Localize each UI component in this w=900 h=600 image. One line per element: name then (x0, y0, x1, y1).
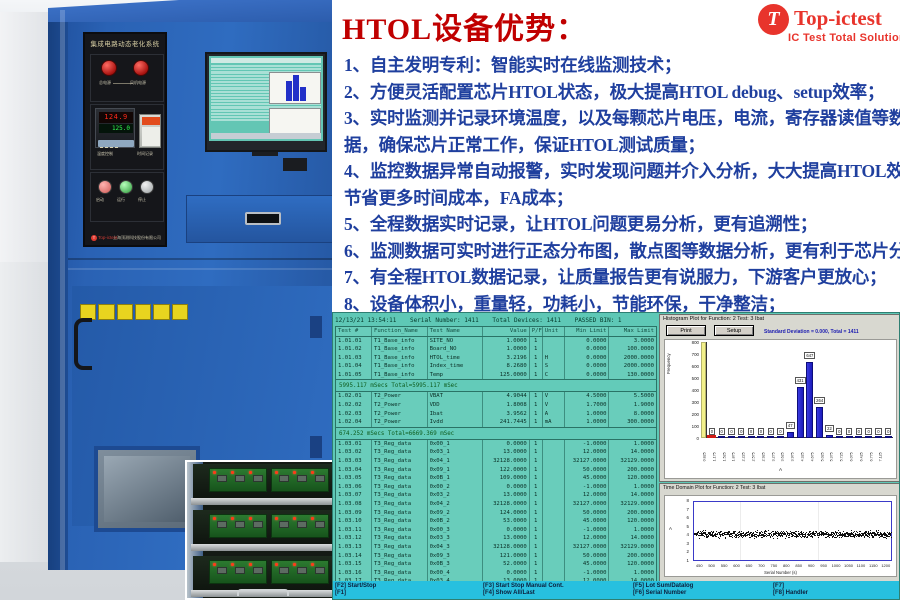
table-cell: 13.0000 (483, 534, 530, 543)
emergency-knob-fan (133, 60, 149, 76)
table-cell: 3.0000 (609, 337, 656, 346)
table-cell: 0x04_3 (428, 543, 484, 552)
table-cell: 1.03.09 (336, 509, 372, 518)
histogram-bar (757, 436, 764, 438)
table-cell: 50.0000 (565, 466, 610, 475)
logo-tagline: IC Test Total Solution (788, 32, 900, 44)
table-cell (543, 448, 565, 457)
table-row[interactable]: 1.02.04T2_PowerIvdd241.74451mA1.0000300.… (336, 418, 656, 427)
status-bar: 12/13/21 13:54:11 Serial Number: 1411 To… (335, 315, 657, 326)
y-tick-label: 5 (687, 524, 689, 529)
table-cell: 1 (530, 509, 543, 518)
meter-label: 温度控制 (97, 151, 113, 157)
x-tick-label: 1150 (867, 563, 879, 568)
counter-label: 时间记录 (137, 151, 153, 157)
table-cell: Index_time (428, 362, 484, 371)
table-cell: 5.5000 (609, 392, 656, 401)
table-cell: 1 (530, 457, 543, 466)
table-cell: 1.03.12 (336, 534, 372, 543)
bar-value-label: 0 (748, 428, 754, 435)
table-cell: 1.02.02 (336, 401, 372, 410)
y-tick-label: 300 (679, 400, 699, 405)
histogram-bar (777, 436, 784, 438)
x-tick-label: 900 (805, 563, 817, 568)
rack-shelf (191, 544, 340, 551)
push-button-run (119, 180, 133, 194)
cabinet-seam (68, 268, 334, 270)
function-key-f4[interactable]: [F4] Show All/Last (483, 590, 535, 596)
histogram-bar-cell: 22 (825, 342, 835, 438)
table-row[interactable]: 1.01.01T1_Base_infoSITE_NO1.000010.00003… (336, 337, 656, 346)
table-cell: 14.0000 (609, 534, 656, 543)
status-serial: Serial Number: 1411 (410, 317, 479, 324)
datalog-table[interactable]: Test #Function_NameTest NameValueP/FUnit… (335, 326, 657, 594)
monitor-screen (209, 56, 323, 141)
logo-t-icon: T (758, 4, 789, 35)
table-cell: 14.0000 (609, 448, 656, 457)
histogram-bar-cell: 0 (727, 342, 737, 438)
table-cell: 1 (530, 543, 543, 552)
table-cell: T3_Reg_data (372, 466, 428, 475)
table-cell: 1.03.08 (336, 500, 372, 509)
histogram-bar (797, 387, 804, 438)
histogram-bar-cell: 0 (864, 342, 874, 438)
table-row[interactable]: 1.03.03T3_Reg_data0x04_132128.0000132127… (336, 457, 656, 466)
table-cell: 0.0000 (483, 569, 530, 578)
histogram-title: Histogram Plot for Function: 2 Test: 3 I… (660, 315, 899, 324)
table-row[interactable]: 1.03.01T3_Reg_data0x00_10.00001-1.00001.… (336, 440, 656, 449)
equipment-monitor (205, 52, 327, 152)
histogram-bar-cell: 47 (785, 342, 795, 438)
x-tick-label: 850 (793, 563, 805, 568)
histogram-bar-cell: 264 (815, 342, 825, 438)
group-timing-footer: 5995.117 mSecs Total=5995.117 mSec (336, 379, 656, 392)
table-cell: 1.7000 (565, 401, 610, 410)
table-cell: T3_Reg_data (372, 534, 428, 543)
table-row[interactable]: 1.03.04T3_Reg_data0x09_1122.0000150.0000… (336, 466, 656, 475)
table-cell: 3.2196 (483, 354, 530, 363)
table-cell: 125.0000 (483, 371, 530, 380)
meter-sv-display: 125.0 (99, 124, 133, 133)
rack-pull-handle (237, 589, 289, 596)
door-hinge (310, 316, 322, 338)
table-cell: 1 (530, 362, 543, 371)
table-row[interactable]: 1.03.14T3_Reg_data0x09_3121.0000150.0000… (336, 552, 656, 561)
function-key-f8[interactable]: [F8] Handler (773, 590, 808, 596)
table-cell: 200.0000 (609, 509, 656, 518)
function-key-f2[interactable]: [F2] Start/Stop (335, 583, 376, 589)
table-cell (543, 560, 565, 569)
column-header: Function_Name (372, 327, 428, 336)
table-cell: 1.03.13 (336, 543, 372, 552)
table-cell (543, 517, 565, 526)
x-tick-label: 1050 (842, 563, 854, 568)
table-cell: -1.0000 (565, 483, 610, 492)
list-item: 6、监测数据可实时进行正态分布图，散点图等数据分析，更有利于芯片分析； (344, 238, 900, 265)
table-cell: 0.0000 (483, 440, 530, 449)
table-cell: 1 (530, 345, 543, 354)
table-cell: 1.0000 (609, 526, 656, 535)
table-cell: 0x0B_2 (428, 517, 484, 526)
histogram-x-ticks: 0.8251.1751.5251.8752.2252.5752.9253.275… (707, 440, 893, 466)
bar-value-label: 0 (885, 428, 891, 435)
table-cell: T3_Reg_data (372, 448, 428, 457)
table-cell: mA (543, 418, 565, 427)
y-tick-label: 200 (679, 412, 699, 417)
x-tick-label: 450 (693, 563, 705, 568)
table-cell: Board_NO (428, 345, 484, 354)
table-cell: 8.0000 (609, 410, 656, 419)
table-cell: 13.0000 (483, 491, 530, 500)
table-cell: 120.0000 (609, 517, 656, 526)
table-cell: Ivdd (428, 418, 484, 427)
cabinet-edge-highlight (60, 10, 65, 570)
table-cell: 0x09_3 (428, 552, 484, 561)
function-key-f1[interactable]: [F1] (335, 590, 346, 596)
bar-value-label: 0 (846, 428, 852, 435)
table-cell: -1.0000 (565, 526, 610, 535)
table-cell: 1 (530, 491, 543, 500)
function-key-f6[interactable]: [F6] Serial Number (633, 590, 686, 596)
table-cell: T3_Reg_data (372, 457, 428, 466)
table-cell: 0x0B_3 (428, 560, 484, 569)
table-cell: V (543, 401, 565, 410)
page-title: HTOL设备优势： (342, 4, 587, 48)
table-cell: SITE_NO (428, 337, 484, 346)
table-cell: 1.0000 (609, 569, 656, 578)
table-cell (543, 337, 565, 346)
table-cell: 32128.0000 (483, 457, 530, 466)
counter-digits (142, 117, 160, 125)
table-cell: 1.9000 (609, 401, 656, 410)
table-cell: 1.0000 (565, 418, 610, 427)
table-cell (543, 534, 565, 543)
table-cell (543, 500, 565, 509)
table-cell: 32129.0000 (609, 457, 656, 466)
group-timing-footer: 674.252 mSecs Total=6669.369 mSec (336, 427, 656, 440)
table-cell: H (543, 354, 565, 363)
table-cell: 120.0000 (609, 474, 656, 483)
table-cell: 1.01.01 (336, 337, 372, 346)
company-logo: T Top-ictest IC Test Total Solution (758, 2, 900, 48)
time-domain-plot: 87654321 A 45050055060065070075080085090… (664, 495, 897, 577)
bar-value-label: 0 (719, 428, 725, 435)
door-hinge (310, 436, 322, 458)
table-cell: 0x03_2 (428, 491, 484, 500)
y-tick-label: 1 (687, 558, 689, 563)
chamber-window-glass (104, 456, 190, 522)
table-row[interactable]: 1.02.03T2_PowerIbat3.95621A1.00008.0000 (336, 410, 656, 419)
table-row[interactable]: 1.03.15T3_Reg_data0x0B_352.0000145.00001… (336, 560, 656, 569)
list-item: 节省更多时间成本，FA成本； (344, 185, 900, 212)
table-cell: 32129.0000 (609, 500, 656, 509)
histogram-lower-limit-marker (707, 435, 716, 438)
histogram-print-button[interactable]: Print (666, 325, 706, 336)
histogram-bar (718, 436, 725, 438)
table-cell: 1.03.11 (336, 526, 372, 535)
table-cell: T3_Reg_data (372, 491, 428, 500)
table-cell: 1.03.03 (336, 457, 372, 466)
table-cell: 0x03_3 (428, 534, 484, 543)
y-tick-label: 800 (679, 340, 699, 345)
bar-value-label: 0 (738, 428, 744, 435)
table-cell: 1 (530, 418, 543, 427)
function-key-f5[interactable]: [F5] Lot Sum/Datalog (633, 583, 693, 589)
control-panel: 集成电路动态老化系统 总电源 风机电源 124.9 125.0 温度控制 时间记… (83, 32, 167, 247)
table-cell (543, 543, 565, 552)
monitor-taskbar (211, 133, 321, 139)
bar-value-label: 0 (777, 428, 783, 435)
table-cell: 300.0000 (609, 418, 656, 427)
table-row[interactable]: 1.03.16T3_Reg_data0x00_40.00001-1.00001.… (336, 569, 656, 578)
table-cell: HTOL_time (428, 354, 484, 363)
table-cell: 0.0000 (565, 362, 610, 371)
x-tick-label: 500 (705, 563, 717, 568)
table-cell: 1.03.04 (336, 466, 372, 475)
time-domain-title: Time Domain Plot for Function: 2 Test: 3… (660, 484, 899, 493)
table-cell: 130.0000 (609, 371, 656, 380)
column-header: Value (483, 327, 530, 336)
table-cell (543, 552, 565, 561)
status-passed-bin: PASSED BIN: 1 (575, 317, 622, 324)
table-cell: VBAT (428, 392, 484, 401)
table-cell: T3_Reg_data (372, 440, 428, 449)
y-tick-label: 600 (679, 364, 699, 369)
function-key-bar[interactable]: [F1] [F2] Start/Stop[F3] Start Stop Manu… (333, 581, 900, 599)
y-tick-label: 700 (679, 352, 699, 357)
x-tick-label: 1200 (880, 563, 892, 568)
table-row[interactable]: 1.03.10T3_Reg_data0x0B_253.0000145.00001… (336, 517, 656, 526)
push-button-start (98, 180, 112, 194)
table-row[interactable]: 1.01.05T1_Base_infoTemp125.00001C0.00001… (336, 371, 656, 380)
table-cell: 1 (530, 466, 543, 475)
table-cell: C (543, 371, 565, 380)
table-cell: 0.0000 (565, 371, 610, 380)
histogram-y-label: Frequency (666, 353, 671, 374)
histogram-bar (806, 362, 813, 438)
table-cell (543, 526, 565, 535)
table-cell: 100.0000 (609, 345, 656, 354)
table-cell: 1.01.05 (336, 371, 372, 380)
histogram-bars: 000000004743164726422000000 (707, 342, 893, 438)
table-cell: T2_Power (372, 392, 428, 401)
histogram-bar (787, 432, 794, 438)
panel-company-text: 上海顶测科技股份有限公司 (113, 235, 161, 241)
monitor-timeplot-popup (269, 108, 321, 134)
table-row[interactable]: 1.03.12T3_Reg_data0x03_313.0000112.00001… (336, 534, 656, 543)
table-cell: 0x00_3 (428, 526, 484, 535)
status-datetime: 12/13/21 13:54:11 (335, 317, 396, 324)
table-row[interactable]: 1.03.02T3_Reg_data0x03_113.0000112.00001… (336, 448, 656, 457)
x-tick-label: 1000 (830, 563, 842, 568)
table-cell: T3_Reg_data (372, 474, 428, 483)
histogram-bar-cell: 0 (766, 342, 776, 438)
table-cell: 1 (530, 401, 543, 410)
rack-shelf (191, 498, 340, 505)
histogram-bar-cell: 0 (844, 342, 854, 438)
table-row[interactable]: 1.03.11T3_Reg_data0x00_30.00001-1.00001.… (336, 526, 656, 535)
table-cell: 0x00_2 (428, 483, 484, 492)
time-domain-axes-frame (693, 501, 892, 561)
x-tick-label: 1100 (855, 563, 867, 568)
table-cell: 1.03.10 (336, 517, 372, 526)
knob-label-power: 总电源 (99, 80, 111, 86)
table-row[interactable]: 1.02.01T2_PowerVBAT4.90441V4.50005.5000 (336, 392, 656, 401)
table-cell: T1_Base_info (372, 345, 428, 354)
table-cell: 1.01.02 (336, 345, 372, 354)
table-cell: Temp (428, 371, 484, 380)
column-header: Test # (336, 327, 372, 336)
histogram-bar-cell: 0 (736, 342, 746, 438)
table-cell: 32127.0000 (565, 543, 610, 552)
table-cell: VDD (428, 401, 484, 410)
table-cell: 13.0000 (483, 448, 530, 457)
table-cell: 1 (530, 526, 543, 535)
table-cell: 2000.0000 (609, 354, 656, 363)
column-header: Test Name (428, 327, 484, 336)
table-cell (543, 466, 565, 475)
histogram-bar (836, 436, 843, 438)
hour-counter (139, 114, 161, 148)
histogram-bar (826, 435, 833, 438)
table-row[interactable]: 1.03.06T3_Reg_data0x00_20.00001-1.00001.… (336, 483, 656, 492)
histogram-setup-button[interactable]: Setup (714, 325, 754, 336)
table-cell: 1 (530, 354, 543, 363)
table-cell: 45.0000 (565, 560, 610, 569)
histogram-y-axis: 8007006005004003002001000 (679, 342, 701, 438)
function-key-f3[interactable]: [F3] Start Stop Manual Cont. (483, 583, 564, 589)
list-item: 2、方便灵活配置芯片HTOL状态，极大提高HTOL debug、setup效率； (344, 79, 900, 106)
table-cell: 1.01.03 (336, 354, 372, 363)
bar-value-label: 0 (768, 428, 774, 435)
table-cell: 241.7445 (483, 418, 530, 427)
table-cell: T1_Base_info (372, 362, 428, 371)
y-tick-label: 3 (687, 541, 689, 546)
histogram-bar-cell: 0 (717, 342, 727, 438)
table-cell: 200.0000 (609, 552, 656, 561)
table-cell: 0x03_1 (428, 448, 484, 457)
table-cell: -1.0000 (565, 440, 610, 449)
table-cell: 124.0000 (483, 509, 530, 518)
emergency-knob-power (101, 60, 117, 76)
x-tick-label: 800 (780, 563, 792, 568)
table-cell: 14.0000 (609, 491, 656, 500)
histogram-bar (885, 436, 892, 438)
table-cell (543, 509, 565, 518)
table-cell: 12.0000 (565, 534, 610, 543)
table-cell: 1.03.14 (336, 552, 372, 561)
push-button-stop (140, 180, 154, 194)
bar-value-label: 0 (758, 428, 764, 435)
bar-value-label: 47 (786, 422, 795, 429)
table-row[interactable]: 1.03.07T3_Reg_data0x03_213.0000112.00001… (336, 491, 656, 500)
monitor-histogram-popup (269, 72, 321, 104)
table-cell: 0x04_1 (428, 457, 484, 466)
table-cell: 1.03.06 (336, 483, 372, 492)
table-cell (543, 483, 565, 492)
table-cell: 1.0000 (609, 483, 656, 492)
counter-body (142, 127, 160, 146)
table-cell: 1 (530, 474, 543, 483)
table-row[interactable]: 1.01.04T1_Base_infoIndex_time8.26801S0.0… (336, 362, 656, 371)
warning-hazard-strip (80, 304, 188, 320)
table-cell: 1.03.16 (336, 569, 372, 578)
table-row[interactable]: 1.01.03T1_Base_infoHTOL_time3.21961H0.00… (336, 354, 656, 363)
column-header: Max Limit (609, 327, 656, 336)
y-tick-label: 0 (679, 436, 699, 441)
histogram-bar (728, 436, 735, 438)
y-tick-label: 7 (687, 507, 689, 512)
table-cell (543, 491, 565, 500)
table-cell: 32128.0000 (483, 543, 530, 552)
histogram-bar-cell: 647 (805, 342, 815, 438)
table-cell: 0.0000 (565, 354, 610, 363)
table-row[interactable]: 1.03.13T3_Reg_data0x04_332128.0000132127… (336, 543, 656, 552)
table-row[interactable]: 1.03.08T3_Reg_data0x04_232128.0000132127… (336, 500, 656, 509)
temperature-controller: 124.9 125.0 (95, 108, 135, 148)
function-key-f7[interactable]: [F7] (773, 583, 784, 589)
bar-value-label: 264 (814, 397, 825, 404)
table-cell: 2000.0000 (609, 362, 656, 371)
table-cell: 122.0000 (483, 466, 530, 475)
histogram-bar (767, 436, 774, 438)
table-cell: T3_Reg_data (372, 560, 428, 569)
table-cell: 0x04_2 (428, 500, 484, 509)
table-cell: 3.9562 (483, 410, 530, 419)
table-cell: T2_Power (372, 410, 428, 419)
table-cell: 1 (530, 410, 543, 419)
table-row[interactable]: 1.03.09T3_Reg_data0x09_2124.0000150.0000… (336, 509, 656, 518)
meter-pv-display: 124.9 (99, 112, 133, 123)
x-tick-label: 750 (768, 563, 780, 568)
table-cell: T3_Reg_data (372, 526, 428, 535)
y-tick-label: 6 (687, 515, 689, 520)
histogram-bar (846, 436, 853, 438)
table-cell: 50.0000 (565, 552, 610, 561)
bar-value-label: 22 (825, 425, 834, 432)
table-cell: 52.0000 (483, 560, 530, 569)
control-panel-title: 集成电路动态老化系统 (85, 38, 165, 48)
histogram-bar-cell: 0 (746, 342, 756, 438)
bar-value-label: 647 (804, 352, 815, 359)
histogram-bar-cell: 0 (707, 342, 717, 438)
table-cell: 1 (530, 500, 543, 509)
table-cell: 4.9044 (483, 392, 530, 401)
table-cell: 50.0000 (565, 509, 610, 518)
table-cell: 1 (530, 371, 543, 380)
table-row[interactable]: 1.01.02T1_Base_infoBoard_NO1.000010.0000… (336, 345, 656, 354)
table-cell: 45.0000 (565, 474, 610, 483)
histogram-bar (738, 436, 745, 438)
burn-in-board-rack-photo (185, 460, 340, 600)
bar-value-label: 0 (856, 428, 862, 435)
table-row[interactable]: 1.03.05T3_Reg_data0x0B_1109.0000145.0000… (336, 474, 656, 483)
table-cell: T3_Reg_data (372, 543, 428, 552)
test-program-window[interactable]: 12/13/21 13:54:11 Serial Number: 1411 To… (332, 312, 900, 600)
histogram-window[interactable]: Histogram Plot for Function: 2 Test: 3 I… (659, 314, 900, 482)
table-cell: 0x09_1 (428, 466, 484, 475)
table-row[interactable]: 1.02.02T2_PowerVDD1.80081V1.70001.9000 (336, 401, 656, 410)
table-cell: 200.0000 (609, 466, 656, 475)
x-tick-label: 7.125 (879, 452, 898, 462)
table-cell: V (543, 392, 565, 401)
x-tick-label: 700 (755, 563, 767, 568)
monitor-stand (252, 152, 278, 156)
table-cell: T2_Power (372, 401, 428, 410)
table-cell: 1.03.05 (336, 474, 372, 483)
table-cell: 32127.0000 (565, 457, 610, 466)
table-cell: 1.8008 (483, 401, 530, 410)
